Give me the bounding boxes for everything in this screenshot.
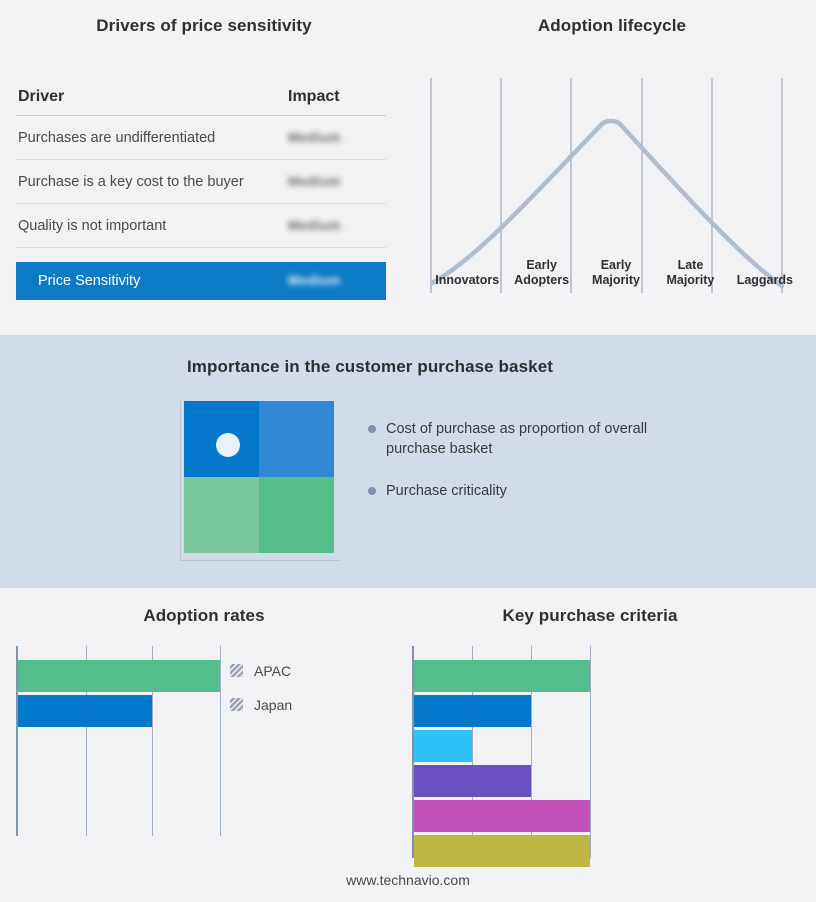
segment-line-2: Innovators	[435, 273, 499, 288]
segment-line-2: Majority	[592, 273, 640, 288]
bar-relatability	[414, 765, 531, 797]
bar-row-price	[414, 695, 592, 727]
table-header-row: Driver Impact	[16, 88, 386, 116]
adoption-lifecycle-title: Adoption lifecycle	[408, 16, 816, 36]
bar-row-service	[414, 835, 592, 867]
bullet-icon	[368, 425, 376, 433]
lifecycle-segment-early-adopters: Early Adopters	[504, 230, 578, 290]
legend-label: APAC	[254, 663, 291, 679]
adoption-lifecycle-panel: Adoption lifecycle Innovators Early Adop…	[408, 0, 816, 335]
quadrant-top-right	[259, 401, 334, 477]
drivers-table: Driver Impact Purchases are undifferenti…	[16, 88, 386, 300]
adoption-rates-legend: APAC Japan	[230, 654, 390, 722]
legend-swatch-icon	[230, 698, 243, 711]
segment-line-2: Adopters	[514, 273, 569, 288]
bar-japan	[18, 695, 152, 727]
impact-value-redacted: Medium	[288, 218, 341, 233]
segment-line-1: Late	[678, 258, 704, 273]
drivers-panel: Drivers of price sensitivity Driver Impa…	[0, 0, 408, 335]
bar-row-regulatory-compliance	[414, 800, 592, 832]
quadrant-bottom-right	[259, 477, 334, 553]
segment-line-1: Early	[526, 258, 557, 273]
importance-panel-title: Importance in the customer purchase bask…	[0, 357, 740, 377]
adoption-rates-panel: Adoption rates APAC Japan	[0, 588, 408, 902]
segment-line-1: Early	[601, 258, 632, 273]
driver-label: Purchase is a key cost to the buyer	[18, 174, 288, 190]
legend-item-apac: APAC	[230, 654, 390, 687]
column-header-driver: Driver	[18, 88, 288, 106]
importance-panel: Importance in the customer purchase bask…	[0, 335, 816, 588]
bar-row-quality	[414, 730, 592, 762]
bar-regulatory-compliance	[414, 800, 590, 832]
footer-url: www.technavio.com	[0, 872, 816, 888]
bar-innovation	[414, 660, 590, 692]
legend-item-japan: Japan	[230, 688, 390, 721]
bar-row-japan	[18, 695, 222, 727]
segment-line-2: Laggards	[737, 273, 793, 288]
impact-value-cell: Medium	[288, 173, 384, 191]
price-sensitivity-impact-cell: Medium	[288, 272, 384, 290]
bar-quality	[414, 730, 472, 762]
driver-label: Quality is not important	[18, 218, 288, 234]
key-purchase-criteria-panel: Key purchase criteria	[400, 588, 816, 902]
adoption-bars-group	[18, 660, 222, 730]
bar-apac	[18, 660, 220, 692]
lifecycle-segment-labels: Innovators Early Adopters Early Majority…	[430, 230, 802, 290]
quadrant-bottom-left	[184, 477, 259, 553]
driver-label: Purchases are undifferentiated	[18, 130, 288, 146]
bar-row-innovation	[414, 660, 592, 692]
key-purchase-criteria-chart	[412, 646, 592, 858]
lifecycle-segment-innovators: Innovators	[430, 230, 504, 290]
quadrant-matrix-wrapper	[180, 401, 340, 501]
lifecycle-segment-laggards: Laggards	[728, 230, 802, 290]
legend-item-label: Purchase criticality	[386, 481, 507, 501]
quadrant-top-left	[184, 401, 259, 477]
adoption-lifecycle-chart: Innovators Early Adopters Early Majority…	[430, 78, 802, 308]
lifecycle-segment-early-majority: Early Majority	[579, 230, 653, 290]
bar-row-apac	[18, 660, 222, 692]
impact-value-cell: Medium	[288, 129, 384, 147]
segment-line-2: Majority	[666, 273, 714, 288]
price-sensitivity-summary-row: Price Sensitivity Medium	[16, 262, 386, 300]
quadrant-matrix	[184, 401, 334, 553]
criteria-bars-group	[414, 660, 592, 870]
column-header-impact: Impact	[288, 88, 384, 106]
legend-swatch-icon	[230, 664, 243, 677]
impact-value-redacted: Medium	[288, 130, 341, 145]
table-row: Purchase is a key cost to the buyer Medi…	[16, 160, 386, 204]
bar-price	[414, 695, 531, 727]
bar-row-relatability	[414, 765, 592, 797]
adoption-rates-title: Adoption rates	[0, 606, 408, 626]
legend-item: Purchase criticality	[368, 481, 698, 501]
legend-item: Cost of purchase as proportion of overal…	[368, 419, 698, 459]
adoption-rates-chart	[16, 646, 222, 836]
table-row: Quality is not important Medium	[16, 204, 386, 248]
bullet-icon	[368, 487, 376, 495]
price-sensitivity-impact-redacted: Medium	[288, 273, 341, 288]
impact-value-redacted: Medium	[288, 174, 341, 189]
quadrant-x-axis	[180, 560, 340, 561]
price-sensitivity-label: Price Sensitivity	[38, 273, 288, 289]
key-purchase-criteria-title: Key purchase criteria	[400, 606, 780, 626]
lifecycle-segment-late-majority: Late Majority	[653, 230, 727, 290]
table-row: Purchases are undifferentiated Medium	[16, 116, 386, 160]
bar-service	[414, 835, 590, 867]
impact-value-cell: Medium	[288, 217, 384, 235]
legend-label: Japan	[254, 697, 292, 713]
importance-legend: Cost of purchase as proportion of overal…	[368, 419, 698, 523]
quadrant-y-axis	[180, 401, 181, 561]
legend-item-label: Cost of purchase as proportion of overal…	[386, 419, 698, 459]
drivers-panel-title: Drivers of price sensitivity	[0, 16, 408, 36]
quadrant-position-marker	[216, 433, 240, 457]
